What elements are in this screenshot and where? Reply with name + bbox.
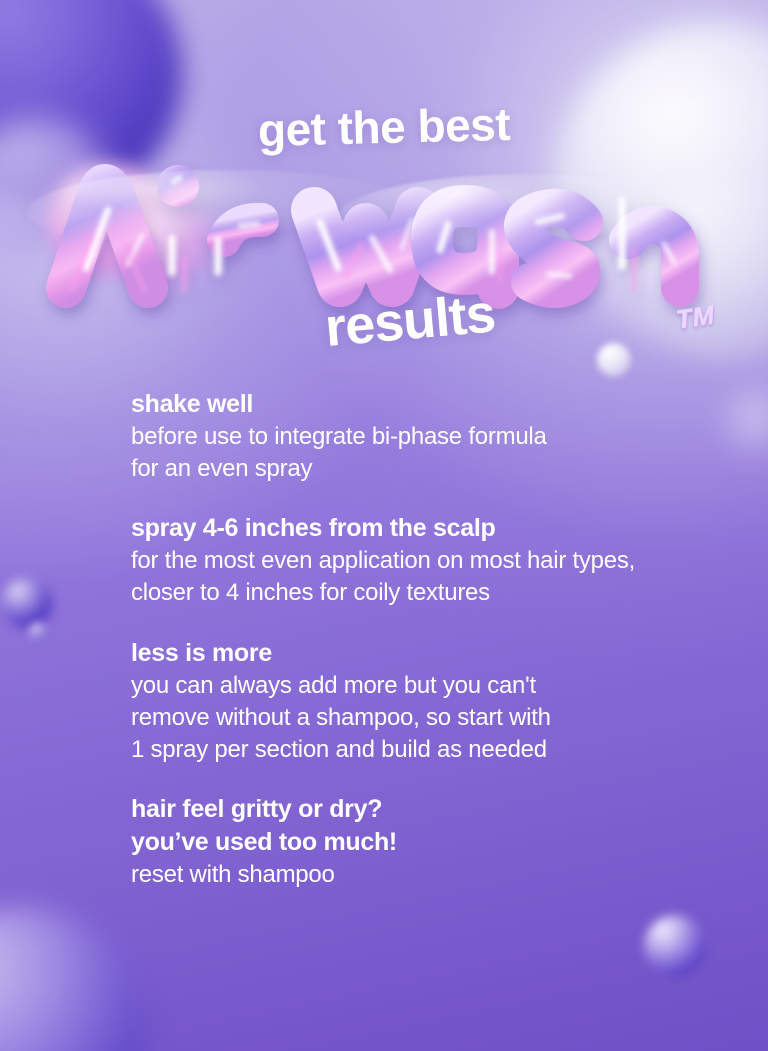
hero-section: get the best [0, 0, 768, 390]
instruction-heading: spray 4-6 inches from the scalp [131, 512, 691, 545]
sphere-left-middle-icon [2, 578, 52, 628]
sphere-bottom-right-icon [644, 915, 706, 977]
instruction-heading: shake well [131, 388, 691, 421]
instructions-list: shake wellbefore use to integrate bi-pha… [131, 388, 691, 891]
instruction-heading: hair feel gritty or dry? [131, 793, 691, 826]
instruction-block: hair feel gritty or dry?you’ve used too … [131, 793, 691, 891]
instruction-heading: you’ve used too much! [131, 826, 691, 859]
instruction-detail-line: 1 spray per section and build as needed [131, 734, 691, 766]
instruction-detail-line: for the most even application on most ha… [131, 545, 691, 577]
instruction-detail-line: closer to 4 inches for coily textures [131, 577, 691, 609]
instruction-detail-line: before use to integrate bi-phase formula [131, 421, 691, 453]
sphere-left-middle-small-icon [28, 622, 50, 644]
sphere-right-edge-icon [728, 392, 768, 452]
poster-canvas: get the best [0, 0, 768, 1051]
instruction-detail-line: you can always add more but you can't [131, 670, 691, 702]
instruction-detail-line: remove without a shampoo, so start with [131, 702, 691, 734]
instruction-heading: less is more [131, 637, 691, 670]
instruction-block: shake wellbefore use to integrate bi-pha… [131, 388, 691, 485]
instruction-detail-line: reset with shampoo [131, 859, 691, 891]
instruction-detail-line: for an even spray [131, 453, 691, 485]
sphere-bottom-left-icon [0, 908, 146, 1051]
instruction-block: spray 4-6 inches from the scalpfor the m… [131, 512, 691, 609]
instruction-block: less is moreyou can always add more but … [131, 637, 691, 766]
